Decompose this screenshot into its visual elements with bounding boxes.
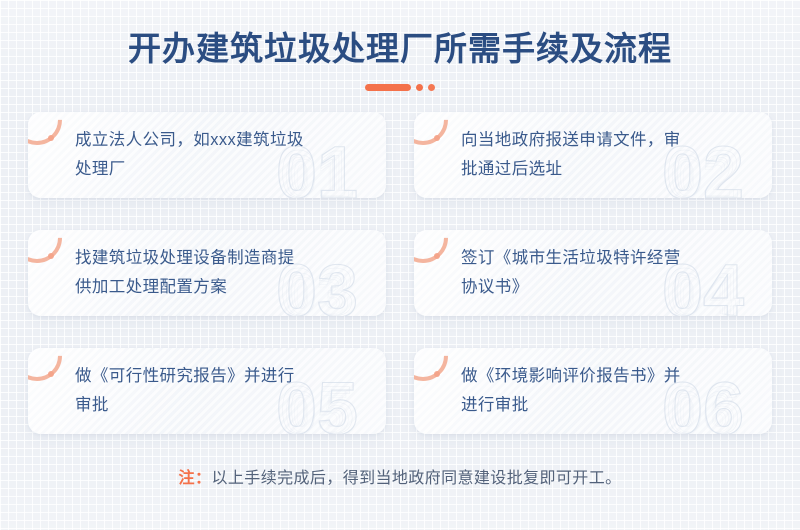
divider-bar-icon bbox=[365, 84, 411, 91]
arc-decoration-icon bbox=[414, 230, 458, 273]
divider-dot-icon bbox=[428, 84, 435, 91]
arc-dot-icon bbox=[48, 371, 54, 377]
arc-dot-icon bbox=[434, 253, 440, 259]
step-card-text: 做《环境影响评价报告书》并进行审批 bbox=[461, 362, 694, 420]
step-card[interactable]: 找建筑垃圾处理设备制造商提供加工处理配置方案 03 030303 bbox=[28, 230, 386, 316]
step-card-text: 签订《城市生活垃圾特许经营协议书》 bbox=[461, 244, 694, 302]
arc-dot-icon bbox=[48, 253, 54, 259]
page-title: 开办建筑垃圾处理厂所需手续及流程 bbox=[0, 27, 800, 71]
header: 开办建筑垃圾处理厂所需手续及流程 bbox=[0, 0, 800, 100]
arc-dot-icon bbox=[434, 135, 440, 141]
infographic-page: 开办建筑垃圾处理厂所需手续及流程 成立法人公司，如xxx建筑垃圾处理厂 01 0… bbox=[0, 0, 800, 530]
arc-decoration-icon bbox=[28, 112, 72, 155]
step-card[interactable]: 做《可行性研究报告》并进行审批 05 050505 bbox=[28, 348, 386, 434]
step-card[interactable]: 向当地政府报送申请文件，审批通过后选址 02 020202 bbox=[414, 112, 772, 198]
note-text: 以上手续完成后，得到当地政府同意建设批复即可开工。 bbox=[212, 470, 622, 487]
step-card[interactable]: 成立法人公司，如xxx建筑垃圾处理厂 01 010101 bbox=[28, 112, 386, 198]
divider-dot-icon bbox=[416, 84, 423, 91]
title-divider bbox=[0, 82, 800, 92]
step-card-grid: 成立法人公司，如xxx建筑垃圾处理厂 01 010101 向当地政府报送申请文件… bbox=[28, 112, 772, 452]
note-label: 注： bbox=[178, 470, 211, 487]
arc-dot-icon bbox=[434, 371, 440, 377]
step-card[interactable]: 做《环境影响评价报告书》并进行审批 06 060606 bbox=[414, 348, 772, 434]
step-card[interactable]: 签订《城市生活垃圾特许经营协议书》 04 040404 bbox=[414, 230, 772, 316]
arc-decoration-icon bbox=[28, 348, 72, 391]
footer-note: 注：以上手续完成后，得到当地政府同意建设批复即可开工。 bbox=[0, 466, 800, 492]
step-card-text: 向当地政府报送申请文件，审批通过后选址 bbox=[461, 126, 694, 184]
arc-decoration-icon bbox=[414, 112, 458, 155]
step-card-text: 做《可行性研究报告》并进行审批 bbox=[75, 362, 308, 420]
arc-decoration-icon bbox=[28, 230, 72, 273]
step-card-text: 成立法人公司，如xxx建筑垃圾处理厂 bbox=[75, 126, 308, 184]
arc-decoration-icon bbox=[414, 348, 458, 391]
arc-dot-icon bbox=[48, 135, 54, 141]
step-card-text: 找建筑垃圾处理设备制造商提供加工处理配置方案 bbox=[75, 244, 308, 302]
